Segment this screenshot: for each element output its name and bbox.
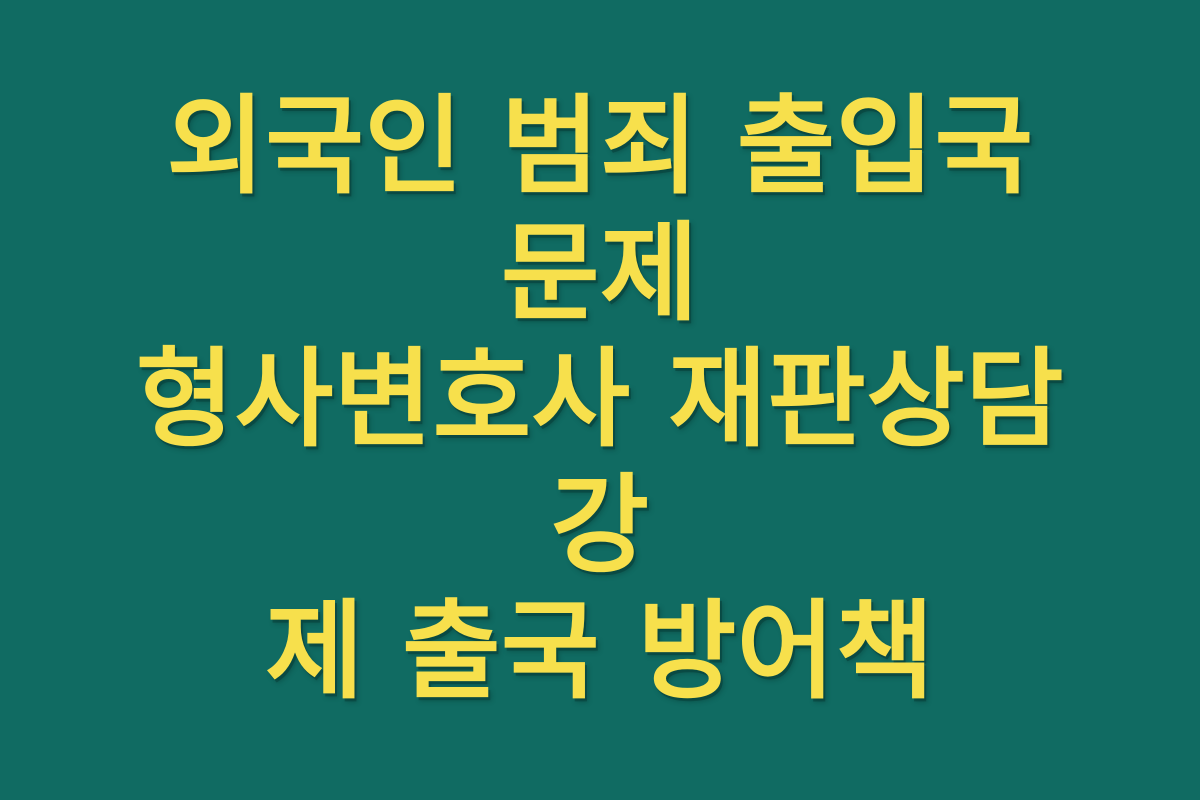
page-title: 외국인 범죄 출입국 문제 형사변호사 재판상담 강 제 출국 방어책 [80,84,1120,715]
thumbnail-canvas: 외국인 범죄 출입국 문제 형사변호사 재판상담 강 제 출국 방어책 [0,0,1200,800]
title-block: 외국인 범죄 출입국 문제 형사변호사 재판상담 강 제 출국 방어책 [70,84,1130,715]
